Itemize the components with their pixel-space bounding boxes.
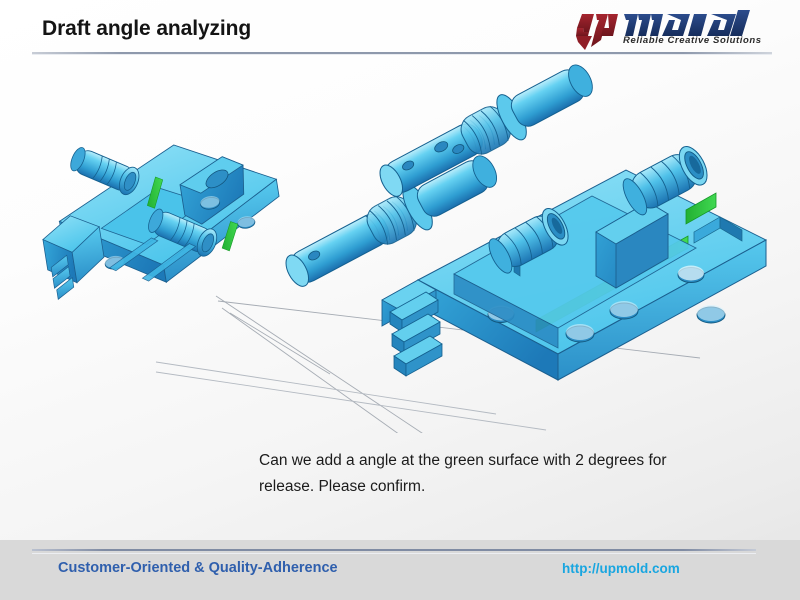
boss-assembly-upper — [67, 144, 143, 198]
cad-artboard — [0, 58, 800, 433]
footer-website-link[interactable]: http://upmold.com — [562, 561, 680, 576]
footer-slogan: Customer-Oriented & Quality-Adherence — [58, 560, 338, 576]
footer-divider — [32, 549, 756, 551]
draft-angle-detail-view — [29, 114, 290, 300]
slide-caption: Can we add a angle at the green surface … — [259, 448, 719, 500]
slide-header: Draft angle analyzing — [0, 0, 800, 56]
header-divider-shadow — [32, 54, 772, 55]
ground-reference-lines — [156, 362, 546, 430]
draft-angle-main-view — [156, 58, 766, 430]
cad-illustration — [0, 58, 800, 433]
page-title: Draft angle analyzing — [42, 17, 251, 41]
upmold-logo: Reliable Creative Solutions — [568, 6, 773, 52]
presentation-slide: Draft angle analyzing — [0, 0, 800, 600]
logo-tagline: Reliable Creative Solutions — [623, 35, 762, 46]
footer-divider-shadow — [32, 553, 756, 554]
